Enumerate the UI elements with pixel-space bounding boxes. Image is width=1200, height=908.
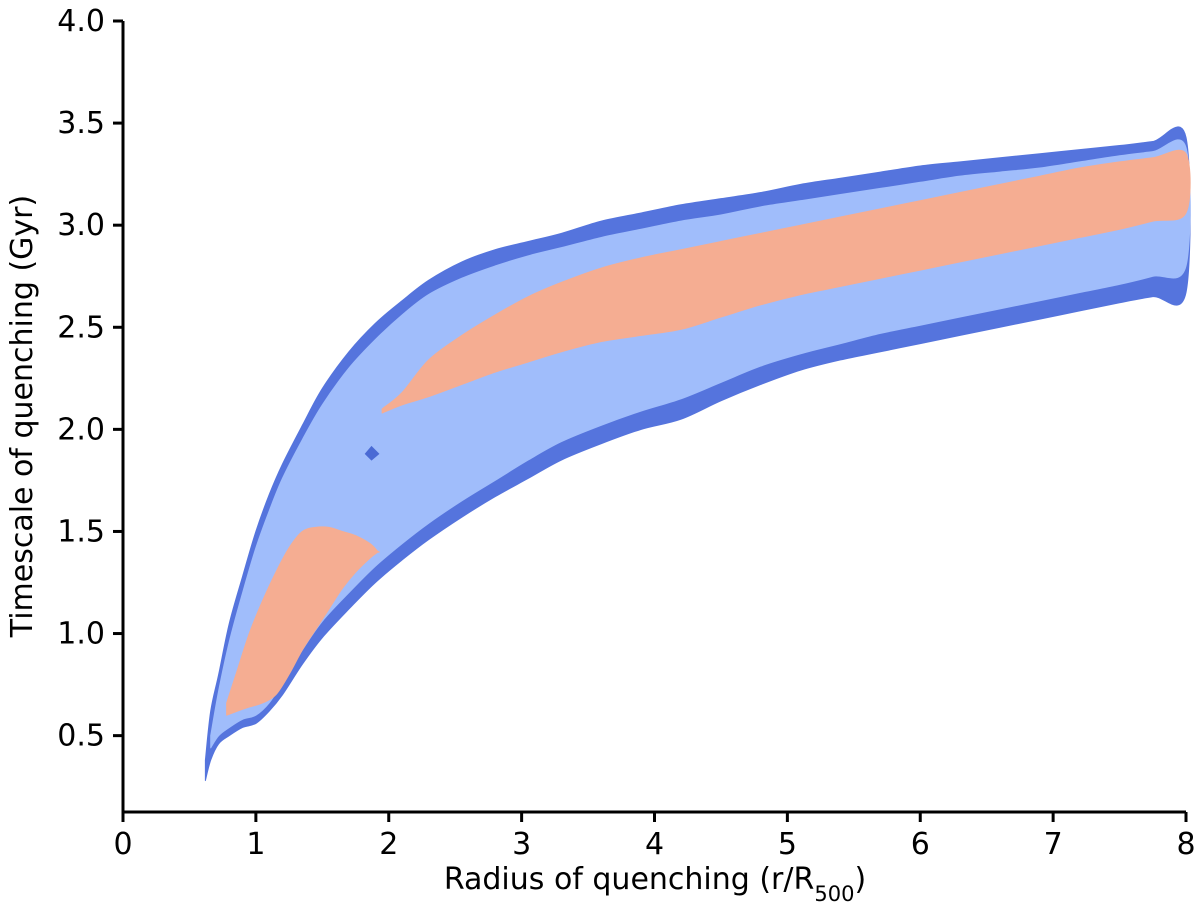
x-tick-label: 3 bbox=[512, 827, 531, 862]
x-axis-title-subscript: 500 bbox=[814, 882, 854, 906]
x-axis-title-main: Radius of quenching (r/R bbox=[444, 862, 815, 897]
y-tick-label: 2.0 bbox=[57, 412, 105, 447]
x-tick-label: 6 bbox=[911, 827, 930, 862]
y-tick-label: 3.0 bbox=[57, 208, 105, 243]
y-tick-label: 1.0 bbox=[57, 617, 105, 652]
figure-container: 012345678 0.51.01.52.02.53.03.54.0 Radiu… bbox=[0, 0, 1200, 908]
y-tick-label: 1.5 bbox=[57, 514, 105, 549]
x-tick-label: 1 bbox=[246, 827, 265, 862]
x-axis-title-tail: ) bbox=[854, 862, 866, 897]
y-axis-ticks: 0.51.01.52.02.53.03.54.0 bbox=[57, 4, 123, 754]
x-axis-title: Radius of quenching (r/R500) bbox=[444, 862, 866, 906]
x-tick-label: 7 bbox=[1044, 827, 1063, 862]
x-tick-label: 8 bbox=[1176, 827, 1195, 862]
y-tick-label: 0.5 bbox=[57, 719, 105, 754]
y-tick-label: 3.5 bbox=[57, 106, 105, 141]
y-tick-label: 2.5 bbox=[57, 310, 105, 345]
y-tick-label: 4.0 bbox=[57, 4, 105, 39]
y-axis-title: Timescale of quenching (Gyr) bbox=[5, 195, 40, 638]
x-tick-label: 5 bbox=[778, 827, 797, 862]
x-tick-label: 0 bbox=[113, 827, 132, 862]
x-tick-label: 2 bbox=[379, 827, 398, 862]
x-axis-ticks: 012345678 bbox=[113, 812, 1195, 862]
x-tick-label: 4 bbox=[645, 827, 664, 862]
contour-plot: 012345678 0.51.01.52.02.53.03.54.0 Radiu… bbox=[0, 0, 1200, 908]
